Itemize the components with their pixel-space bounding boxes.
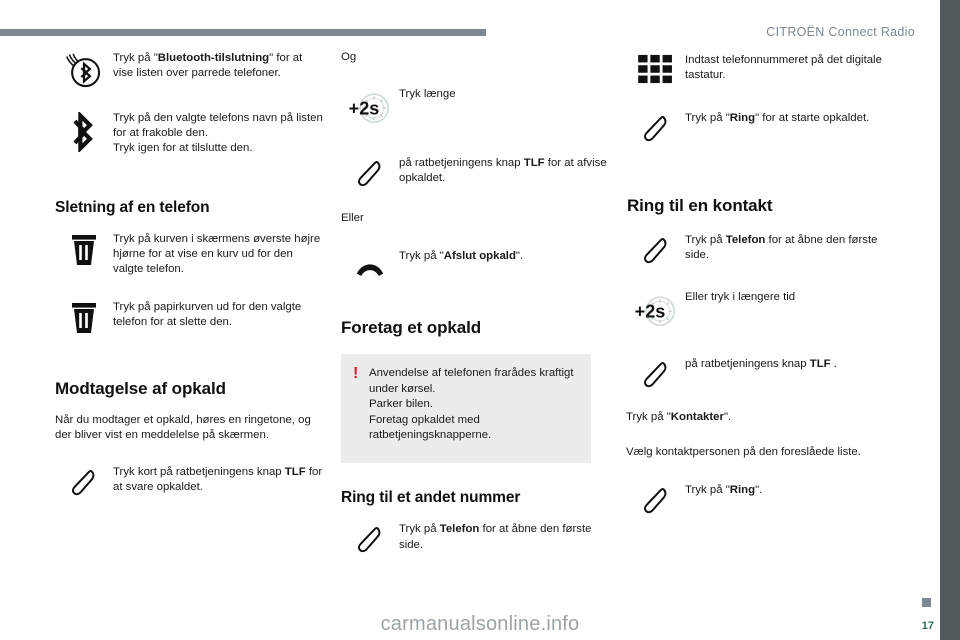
instruction-row: Tryk på Telefon for at åbne den første s… [627,232,895,268]
section-heading-call-contact: Ring til en kontakt [627,196,895,216]
instruction-text: på ratbetjeningens knap TLF . [685,356,895,372]
instruction-row: Tryk kort på ratbetjeningens knap TLF fo… [55,464,323,500]
instruction-text: Tryk på "Ring" for at starte opkaldet. [685,110,895,126]
instruction-text: Tryk på "Bluetooth-tilslutning" for at v… [113,50,323,81]
instruction-text: Tryk på papirkurven ud for den valgte te… [113,299,323,330]
receive-call-paragraph: Når du modtager et opkald, høres en ring… [55,413,323,443]
page-edge-strip [940,0,960,640]
instruction-row: +2s Tryk længe [341,87,609,129]
connector-word-eller: Eller [341,211,609,226]
instruction-text: Tryk på "Ring". [685,482,895,498]
instruction-row: +2s Eller tryk i længere tid [627,290,895,332]
header-title: CITROËN Connect Radio [766,25,915,39]
manual-page: CITROËN Connect Radio Tryk på "Bluetooth… [0,0,960,640]
instruction-row: Tryk på "Ring" for at starte opkaldet. [627,110,895,146]
header-rule [0,29,486,36]
svg-text:+2s: +2s [349,99,380,119]
svg-text:+2s: +2s [635,302,666,322]
phone-handset-icon [341,521,399,557]
instruction-row: Tryk på den valgte telefons navn på list… [55,110,323,157]
trash-icon [55,231,113,267]
instruction-text: Eller tryk i længere tid [685,290,895,305]
column-left: Tryk på "Bluetooth-tilslutning" for at v… [55,50,323,516]
instruction-text: Tryk på den valgte telefons navn på list… [113,110,323,157]
instruction-row: på ratbetjeningens knap TLF . [627,356,895,392]
phone-handset-icon [55,464,113,500]
trash-icon [55,299,113,335]
instruction-text: Indtast telefonnummeret på det digitale … [685,52,895,83]
instruction-row: Indtast telefonnummeret på det digitale … [627,52,895,84]
keypad-icon [627,52,685,84]
select-contact-instruction: Vælg kontaktpersonen på den foreslåede l… [626,445,895,460]
instruction-text: Tryk på kurven i skærmens øverste højre … [113,231,323,278]
phone-handset-icon [627,232,685,268]
phone-hangup-icon [341,248,399,280]
instruction-text: på ratbetjeningens knap TLF for at afvis… [399,155,609,186]
instruction-row: Tryk på kurven i skærmens øverste højre … [55,231,323,278]
press-2s-icon: +2s [627,290,685,332]
contacts-instruction: Tryk på "Kontakter". [626,410,895,425]
section-heading-call-other-number: Ring til et andet nummer [341,489,609,507]
instruction-row: på ratbetjeningens knap TLF for at afvis… [341,155,609,191]
phone-handset-icon [627,356,685,392]
instruction-row: Tryk på "Afslut opkald". [341,248,609,280]
instruction-text: Tryk kort på ratbetjeningens knap TLF fo… [113,464,323,495]
bluetooth-icon [55,110,113,152]
section-heading-make-call: Foretag et opkald [341,318,609,338]
instruction-row: Tryk på Telefon for at åbne den første s… [341,521,609,557]
instruction-text: Tryk på Telefon for at åbne den første s… [399,521,609,552]
column-middle: Og +2s [341,50,609,573]
connector-word-og: Og [341,50,609,65]
section-heading-receive-call: Modtagelse af opkald [55,379,323,399]
column-right: Indtast telefonnummeret på det digitale … [627,52,895,534]
warning-exclamation-icon: ! [353,366,369,443]
instruction-row: Tryk på "Bluetooth-tilslutning" for at v… [55,50,323,90]
section-heading-delete-phone: Sletning af en telefon [55,199,323,217]
phone-handset-icon [341,155,399,191]
phone-handset-icon [627,110,685,146]
phone-handset-icon [627,482,685,518]
warning-text: Anvendelse af telefonen frarådes kraftig… [369,366,577,443]
press-2s-icon: +2s [341,87,399,129]
bluetooth-connect-icon [55,50,113,90]
instruction-row: Tryk på papirkurven ud for den valgte te… [55,299,323,335]
instruction-text: Tryk på "Afslut opkald". [399,248,609,264]
footer-square-mark [922,598,931,607]
warning-callout: ! Anvendelse af telefonen frarådes kraft… [341,354,591,463]
instruction-text: Tryk på Telefon for at åbne den første s… [685,232,895,263]
instruction-row: Tryk på "Ring". [627,482,895,518]
watermark: carmanualsonline.info [0,613,960,636]
instruction-text: Tryk længe [399,87,609,102]
